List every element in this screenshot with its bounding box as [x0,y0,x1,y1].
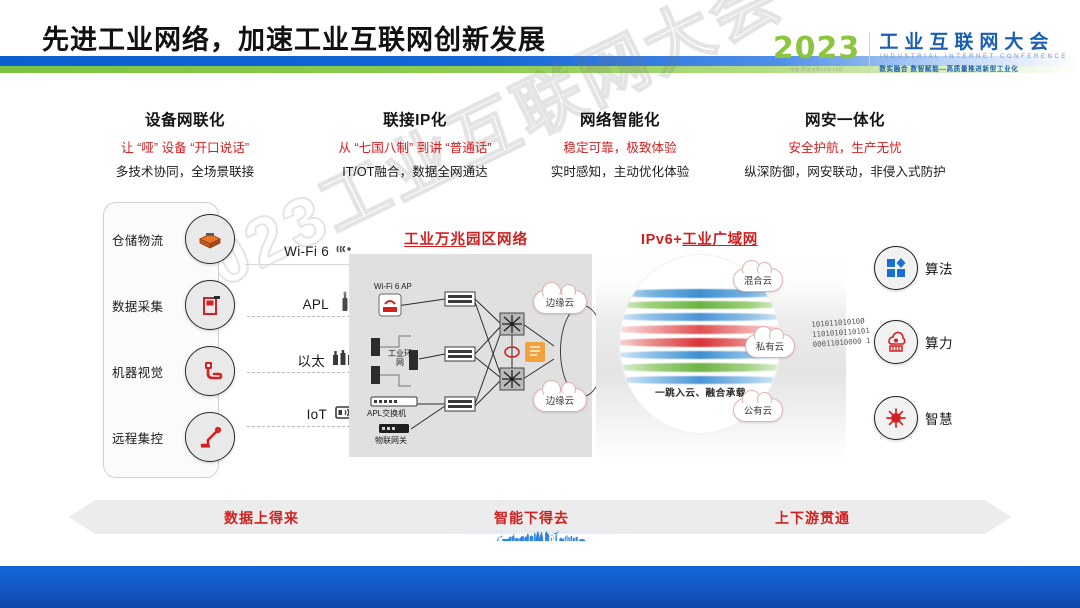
campus-network-title: 工业万兆园区网络 [404,228,528,249]
scenario-item-remote-control[interactable]: 远程集控 [104,410,218,466]
conference-logo: 2023 中国·苏州 8月14日-16日 工业互联网大会 INDUSTRIAL … [773,29,1068,77]
connectivity-item-wifi6[interactable]: Wi-Fi 6 [243,236,355,266]
scenario-card: 仓储物流 数据采集 机器视觉 [103,202,219,478]
connectivity-label: Wi-Fi 6 [284,244,329,259]
flow-arrow-right-head [985,500,1011,534]
pillar-detail: 纵深防御，网安联动，非侵入式防护 [700,161,990,180]
scenario-label: 数据采集 [104,297,164,315]
pillar-device-networking: 设备网联化 让 “哑” 设备 “开口说话” 多技术协同，全场景联接 [60,108,310,180]
flow-label-data-up: 数据上得来 [224,508,299,528]
scenario-label: 机器视觉 [104,363,164,381]
machine-vision-camera-icon [185,346,235,396]
scenario-label: 远程集控 [104,429,164,447]
wan-title-rest: 工业广域网 [682,232,758,248]
logo-divider [869,32,870,74]
capability-item-intelligence[interactable]: 智慧 [874,396,953,440]
connectivity-column: Wi-Fi 6 APL 以太 [243,236,355,456]
edge-cloud-bottom: 边缘云 [533,388,587,412]
connectivity-item-ethernet[interactable]: 以太 [243,345,355,375]
connectivity-label: IoT [307,407,327,422]
warehouse-box-icon [185,214,235,264]
pillar-title: 设备网联化 [60,108,310,130]
intelligence-brain-icon [874,396,918,440]
flow-arrow-left-head [69,500,95,534]
connectivity-item-iot[interactable]: IoT [243,399,355,429]
pillar-detail: 多技术协同，全场景联接 [60,161,310,180]
remote-control-arm-icon [185,412,235,462]
campus-node-label-iot-gateway: 物联网关 [375,435,407,446]
wan-title-red: IPv6+ [641,232,682,248]
capability-item-compute[interactable]: 算力 [874,320,953,364]
logo-year-subtitle: 中国·苏州 8月14日-16日 [790,67,843,73]
footer-skyline [0,530,1080,608]
scenario-item-data-collection[interactable]: 数据采集 [104,278,218,334]
edge-cloud-top: 边缘云 [533,290,587,314]
pillar-row: 设备网联化 让 “哑” 设备 “开口说话” 多技术协同，全场景联接 联接IP化 … [0,108,1080,180]
capability-label: 算力 [925,332,953,352]
flow-label-end-to-end: 上下游贯通 [775,508,850,528]
pillar-security-integration: 网安一体化 安全护航，生产无忧 纵深防御，网安联动，非侵入式防护 [700,108,990,180]
wan-title: IPv6+工业广域网 [641,228,758,249]
campus-node-label-ap: Wi-Fi 6 AP [374,282,412,291]
campus-node-label-apl-switch: APL交换机 [367,408,406,419]
scenario-item-warehouse[interactable]: 仓储物流 [104,212,218,268]
cloud-public: 公有云 [733,398,783,422]
logo-year: 2023 [773,34,861,64]
compute-cloud-icon [874,320,918,364]
scenario-item-machine-vision[interactable]: 机器视觉 [104,344,218,400]
pillar-highlight: 让 “哑” 设备 “开口说话” [60,137,310,156]
connectivity-label: APL [303,297,329,312]
footer-gradient-band [0,566,1080,608]
connectivity-label: 以太 [297,350,325,370]
logo-tagline: 数实融合 数智赋能—高质量推进新型工业化 [879,63,1068,73]
logo-year-block: 2023 中国·苏州 8月14日-16日 [773,34,870,73]
campus-title-rest: 园区网络 [466,232,528,248]
connectivity-item-apl[interactable]: APL [243,289,355,319]
binary-stream-text: 10101101010Ø 1101010110101 00011010000 1 [811,316,871,350]
cloud-private: 私有云 [745,334,795,358]
logo-name-en: INDUSTRIAL INTERNET CONFERENCE [879,54,1068,60]
scenario-label: 仓储物流 [104,231,164,249]
flow-label-intelligence-down: 智能下得去 [494,508,569,528]
campus-node-label-ring: 工业环网 [387,350,413,368]
data-collection-icon [185,280,235,330]
pillar-highlight: 安全护航，生产无忧 [700,137,990,156]
cloud-hybrid: 混合云 [733,268,783,292]
capability-item-algorithm[interactable]: 算法 [874,246,953,290]
slide-root: 先进工业网络，加速工业互联网创新发展 2023 中国·苏州 8月14日-16日 … [0,0,1080,608]
logo-name-cn: 工业互联网大会 [879,33,1068,53]
capability-label: 算法 [925,258,953,278]
page-title: 先进工业网络，加速工业互联网创新发展 [42,18,546,57]
pillar-title: 网安一体化 [700,108,990,130]
capability-label: 智慧 [925,408,953,428]
algorithm-blocks-icon [874,246,918,290]
logo-name-block: 工业互联网大会 INDUSTRIAL INTERNET CONFERENCE 数… [879,33,1068,74]
campus-title-red: 工业万兆 [404,232,466,248]
